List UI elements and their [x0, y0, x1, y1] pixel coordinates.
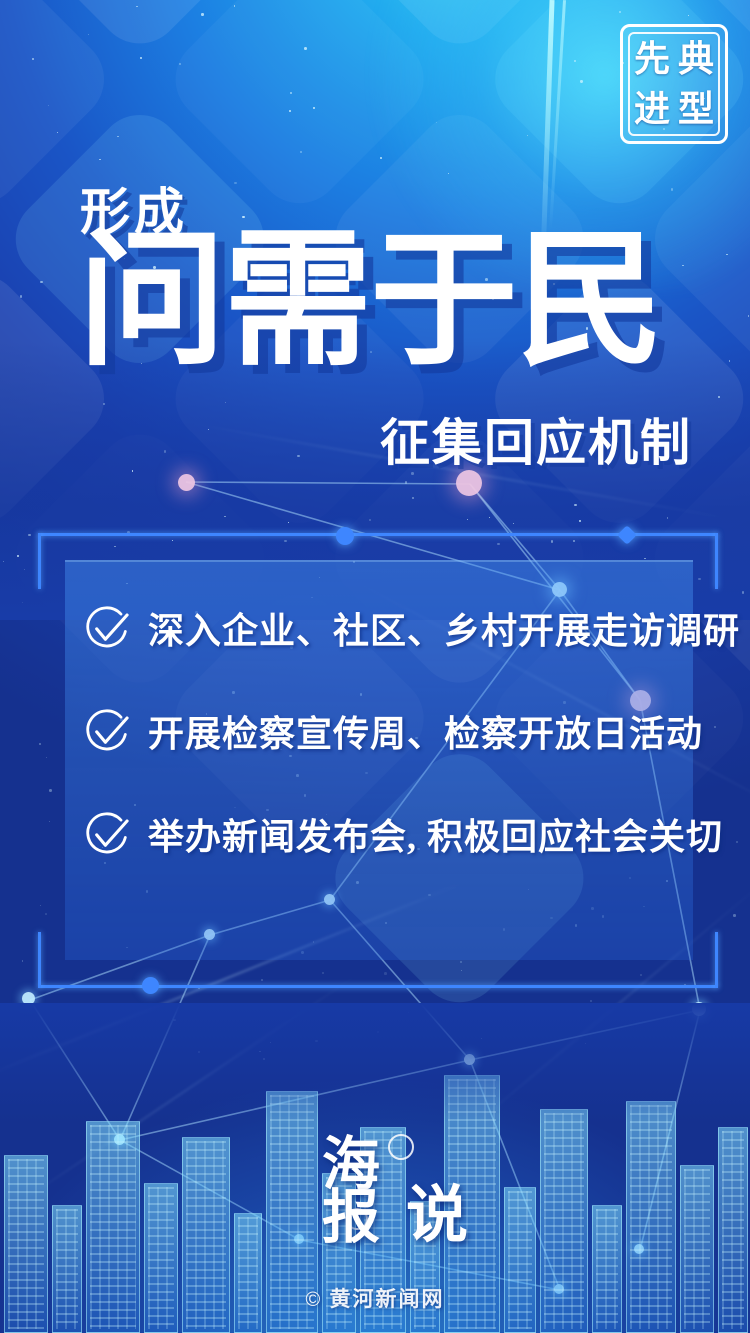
list-item-label: 开展检察宣传周、检察开放日活动 [148, 705, 703, 757]
copyright-icon: © [306, 1289, 323, 1311]
logo-char-hai: 海 [322, 1138, 380, 1191]
list-item[interactable]: 举办新闻发布会, 积极回应社会关切 [82, 786, 702, 881]
seal-char-4: 型 [678, 91, 714, 127]
bullet-list: 深入企业、社区、乡村开展走访调研 开展检察宣传周、检察开放日活动 举办新闻发布会… [82, 580, 702, 881]
headline-sub: 征集回应机制 [380, 403, 692, 475]
seal-char-3: 进 [634, 91, 670, 127]
credit-text: 黄河新闻网 [330, 1287, 445, 1311]
list-item-label: 举办新闻发布会, 积极回应社会关切 [148, 808, 723, 860]
check-circle-icon [82, 705, 134, 757]
logo-char-bao: 报 [322, 1191, 380, 1244]
list-item[interactable]: 深入企业、社区、乡村开展走访调研 [82, 580, 702, 675]
brand-logo: 海 报 说 [322, 1138, 462, 1248]
logo-stacked-chars: 海 报 [322, 1138, 380, 1245]
seal-char-1: 先 [634, 41, 670, 77]
headline-main: 问需于民 [78, 228, 662, 376]
check-circle-icon [82, 808, 134, 860]
list-item-label: 深入企业、社区、乡村开展走访调研 [148, 602, 740, 654]
list-item[interactable]: 开展检察宣传周、检察开放日活动 [82, 683, 702, 778]
seal-badge: 先 典 进 型 [620, 24, 728, 144]
logo-char-shuo: 说 [406, 1164, 468, 1254]
seal-char-2: 典 [678, 41, 714, 77]
credit-line: © 黄河新闻网 [0, 1283, 750, 1313]
logo-ring-top [388, 1134, 414, 1160]
check-circle-icon [82, 602, 134, 654]
poster-canvas: 先 典 进 型 形成 问需于民 征集回应机制 深入企业、社区、乡村开展走访调研 [0, 0, 750, 1333]
